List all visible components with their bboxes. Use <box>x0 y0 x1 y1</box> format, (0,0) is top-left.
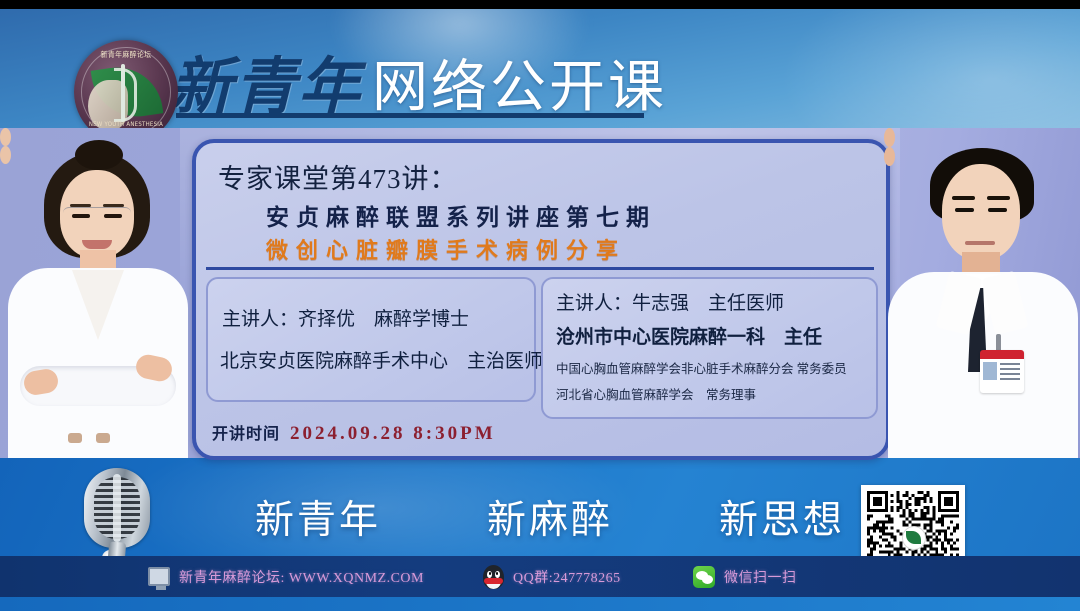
footer-item-wechat[interactable]: 微信扫一扫 <box>693 556 797 597</box>
lecture-number-line: 专家课堂第473讲： <box>218 157 458 196</box>
logo-snake-shape <box>114 68 137 122</box>
qr-center-logo-icon <box>902 526 926 550</box>
qq-penguin-icon <box>483 565 504 589</box>
speaker-right-line3: 中国心胸血管麻醉学会非心脏手术麻醉分会 常务委员 <box>556 358 847 377</box>
time-value: 2024.09.28 8:30PM <box>290 423 496 444</box>
logo-bottom-text: NEW YOUTH ANESTHESIA FORUM <box>79 121 173 128</box>
brow-left <box>952 196 975 200</box>
ear-left-shape <box>884 128 895 147</box>
ear-right-shape <box>884 147 895 166</box>
footer-qq-text: QQ群:247778265 <box>513 567 621 587</box>
footer-website-text: 新青年麻醉论坛: WWW.XQNMZ.COM <box>179 567 424 587</box>
wechat-icon <box>693 566 715 588</box>
time-label: 开讲时间 <box>212 426 280 443</box>
lecture-time: 开讲时间2024.09.28 8:30PM <box>212 420 496 445</box>
slogan-1: 新青年 <box>255 489 381 545</box>
coat-button <box>68 433 82 443</box>
header-underline <box>176 113 644 118</box>
top-letterbox-bar <box>0 0 1080 9</box>
coat-button <box>96 433 110 443</box>
speaker-right-box: 主讲人：牛志强 主任医师 沧州市中心医院麻醉一科 主任 中国心胸血管麻醉学会非心… <box>541 277 878 419</box>
male-speaker-photo <box>884 128 1080 458</box>
footer-bar: 新青年麻醉论坛: WWW.XQNMZ.COM QQ群:247778265 微信扫… <box>0 556 1080 597</box>
mic-bar-shape <box>113 474 121 542</box>
face-shape <box>942 164 1020 260</box>
panel-divider <box>206 267 874 270</box>
speaker-right-line4: 河北省心胸血管麻醉学会 常务理事 <box>556 384 756 403</box>
eye-right <box>988 208 1007 212</box>
footer-wechat-text: 微信扫一扫 <box>724 567 797 587</box>
mouth-shape <box>82 240 112 249</box>
female-speaker-photo <box>0 128 196 458</box>
glasses-icon <box>63 207 131 222</box>
bottom-blue-strip <box>0 597 1080 611</box>
mouth-shape <box>965 241 995 245</box>
footer-item-website[interactable]: 新青年麻醉论坛: WWW.XQNMZ.COM <box>148 556 424 597</box>
speaker-left-line1: 主讲人：齐择优 麻醉学博士 <box>222 304 469 331</box>
webinar-poster: 新青年麻醉论坛 NEW YOUTH ANESTHESIA FORUM 新青年 网… <box>0 0 1080 611</box>
slogan-2: 新麻醉 <box>487 489 613 545</box>
mic-head-shape <box>84 468 150 548</box>
lecture-info-panel: 专家课堂第473讲： 安贞麻醉联盟系列讲座第七期 微创心脏瓣膜手术病例分享 主讲… <box>192 139 890 460</box>
id-badge <box>980 350 1024 393</box>
topic-line: 微创心脏瓣膜手术病例分享 <box>266 233 626 265</box>
speaker-right-line1: 主讲人：牛志强 主任医师 <box>556 288 784 315</box>
slogan-row: 新青年 新麻醉 新思想 <box>255 489 845 545</box>
header-band: 新青年麻醉论坛 NEW YOUTH ANESTHESIA FORUM 新青年 网… <box>0 9 1080 128</box>
header-glow <box>780 9 1080 128</box>
brow-right <box>987 196 1010 200</box>
forum-logo-icon: 新青年麻醉论坛 NEW YOUTH ANESTHESIA FORUM <box>74 40 178 128</box>
logo-top-text: 新青年麻醉论坛 <box>78 49 174 60</box>
speaker-left-box: 主讲人：齐择优 麻醉学博士 北京安贞医院麻醉手术中心 主治医师 <box>206 277 536 402</box>
speaker-right-line2: 沧州市中心医院麻醉一科 主任 <box>556 322 822 349</box>
eye-left <box>955 208 974 212</box>
footer-item-qq[interactable]: QQ群:247778265 <box>483 556 621 597</box>
header-subtitle: 网络公开课 <box>372 42 667 123</box>
slogan-3: 新思想 <box>719 489 845 545</box>
monitor-icon <box>148 567 170 586</box>
ear-right-shape <box>0 146 11 164</box>
speaker-left-line2: 北京安贞医院麻醉手术中心 主治医师 <box>220 346 543 373</box>
hair-bun-shape <box>75 140 123 170</box>
ear-left-shape <box>0 128 11 146</box>
series-line: 安贞麻醉联盟系列讲座第七期 <box>266 198 656 232</box>
